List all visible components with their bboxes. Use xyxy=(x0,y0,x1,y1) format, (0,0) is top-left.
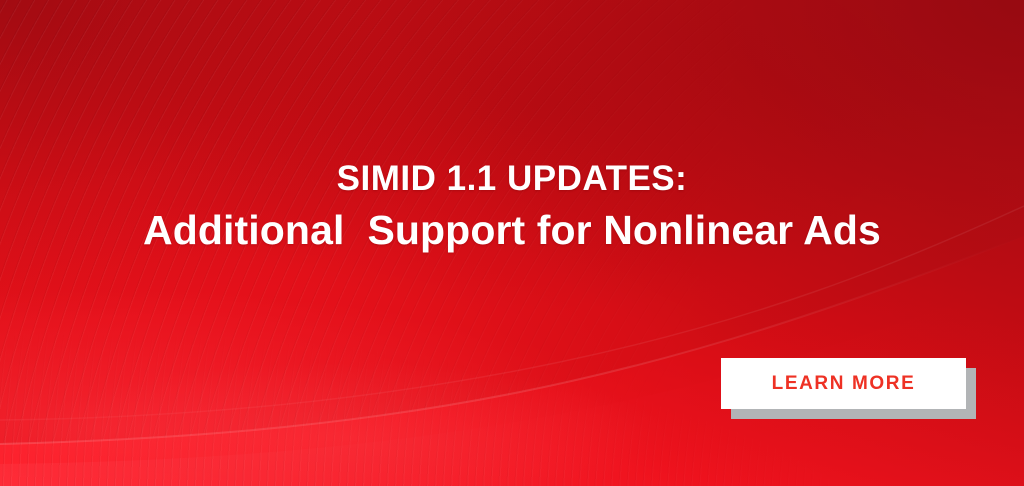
learn-more-label: LEARN MORE xyxy=(772,373,916,395)
headline-line-2: Additional Support for Nonlinear Ads xyxy=(0,202,1024,258)
headline-line-1: SIMID 1.1 UPDATES: xyxy=(0,156,1024,202)
cta-button-group: LEARN MORE xyxy=(721,358,976,419)
promo-banner: SIMID 1.1 UPDATES: Additional Support fo… xyxy=(0,0,1024,486)
learn-more-button[interactable]: LEARN MORE xyxy=(721,358,966,409)
headline-block: SIMID 1.1 UPDATES: Additional Support fo… xyxy=(0,156,1024,258)
